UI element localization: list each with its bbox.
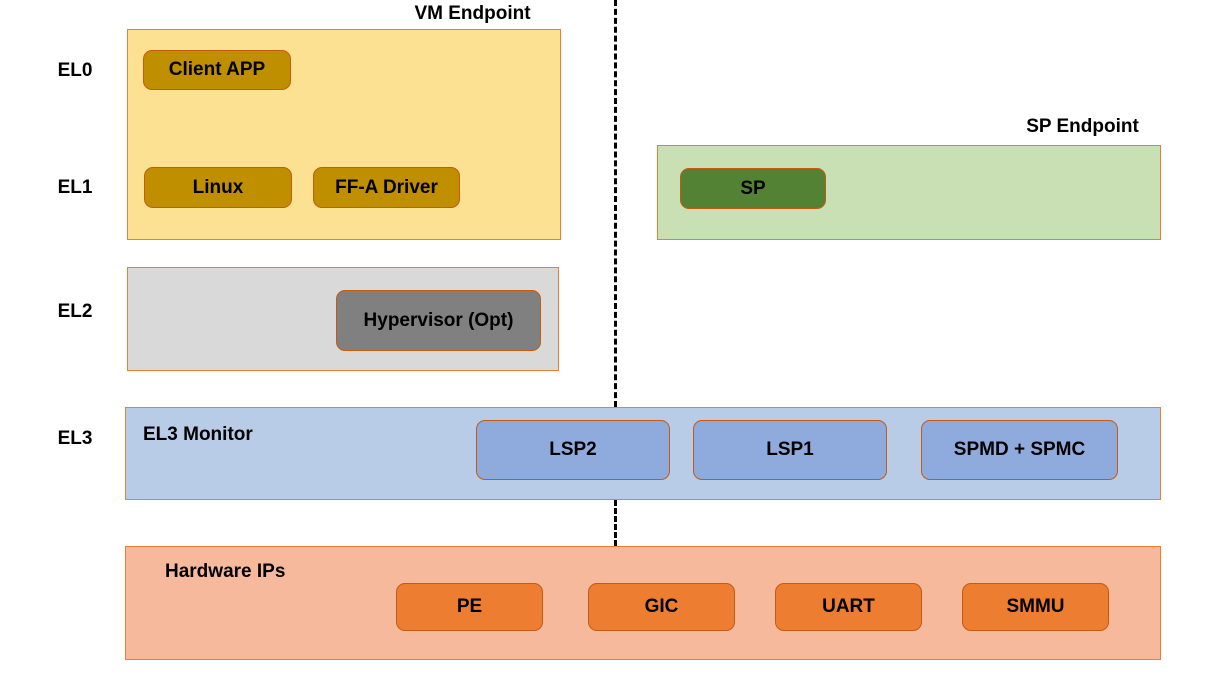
- diagram-canvas: EL0 EL1 EL2 EL3 VM Endpoint SP Endpoint …: [0, 0, 1211, 698]
- exception-level-label-el1: EL1: [40, 178, 110, 197]
- component-uart[interactable]: UART: [775, 583, 922, 631]
- component-spmd-spmc[interactable]: SPMD + SPMC: [921, 420, 1118, 480]
- component-uart-label: UART: [822, 596, 875, 618]
- exception-level-label-el3: EL3: [40, 429, 110, 448]
- exception-level-label-el2: EL2: [40, 302, 110, 321]
- component-linux-label: Linux: [193, 177, 244, 199]
- vm-endpoint-caption: VM Endpoint: [345, 4, 600, 23]
- component-smmu-label: SMMU: [1006, 596, 1064, 618]
- component-lsp1-label: LSP1: [766, 439, 814, 461]
- component-client-app-label: Client APP: [169, 59, 265, 81]
- component-lsp2-label: LSP2: [549, 439, 597, 461]
- exception-level-label-el0: EL0: [40, 61, 110, 80]
- component-hypervisor[interactable]: Hypervisor (Opt): [336, 290, 541, 351]
- component-lsp2[interactable]: LSP2: [476, 420, 670, 480]
- component-pe[interactable]: PE: [396, 583, 543, 631]
- component-linux[interactable]: Linux: [144, 167, 292, 208]
- component-gic-label: GIC: [645, 596, 679, 618]
- component-sp-label: SP: [740, 178, 765, 200]
- world-divider-line-lower: [614, 500, 617, 546]
- component-pe-label: PE: [457, 596, 482, 618]
- component-lsp1[interactable]: LSP1: [693, 420, 887, 480]
- component-gic[interactable]: GIC: [588, 583, 735, 631]
- hardware-layer-title: Hardware IPs: [165, 562, 285, 581]
- sp-endpoint-caption: SP Endpoint: [955, 117, 1210, 136]
- component-spmd-spmc-label: SPMD + SPMC: [954, 439, 1085, 461]
- component-client-app[interactable]: Client APP: [143, 50, 291, 90]
- el3-layer-title: EL3 Monitor: [143, 425, 253, 444]
- world-divider-line: [614, 0, 617, 407]
- component-ffa-driver[interactable]: FF-A Driver: [313, 167, 460, 208]
- component-hypervisor-label: Hypervisor (Opt): [364, 310, 514, 332]
- component-ffa-driver-label: FF-A Driver: [335, 177, 438, 199]
- component-sp[interactable]: SP: [680, 168, 826, 209]
- component-smmu[interactable]: SMMU: [962, 583, 1109, 631]
